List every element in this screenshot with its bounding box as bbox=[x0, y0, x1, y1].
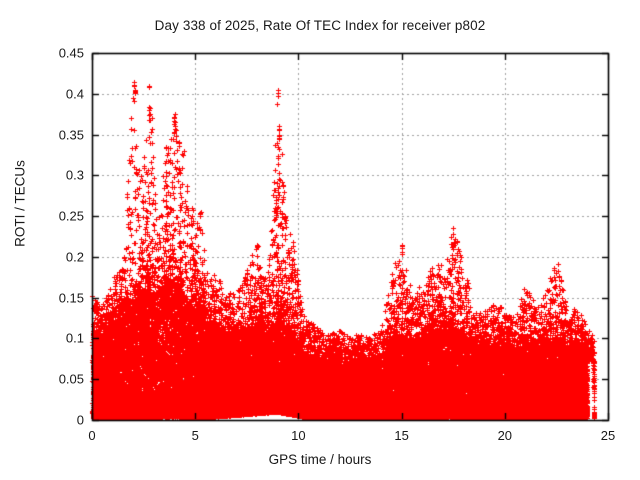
y-tick-label: 0.1 bbox=[20, 331, 84, 346]
x-tick-label: 0 bbox=[88, 428, 95, 443]
y-tick-label: 0 bbox=[20, 413, 84, 428]
x-tick-label: 25 bbox=[601, 428, 615, 443]
y-tick-label: 0.3 bbox=[20, 168, 84, 183]
y-tick-label: 0.15 bbox=[20, 290, 84, 305]
y-tick-label: 0.05 bbox=[20, 372, 84, 387]
x-tick-label: 15 bbox=[394, 428, 408, 443]
x-axis-label: GPS time / hours bbox=[0, 452, 640, 467]
y-tick-label: 0.35 bbox=[20, 127, 84, 142]
x-tick-label: 10 bbox=[291, 428, 305, 443]
roti-scatter-chart: Day 338 of 2025, Rate Of TEC Index for r… bbox=[0, 0, 640, 480]
y-axis-label: ROTI / TECUs bbox=[13, 124, 28, 284]
y-tick-label: 0.2 bbox=[20, 249, 84, 264]
y-tick-label: 0.4 bbox=[20, 86, 84, 101]
x-tick-label: 5 bbox=[192, 428, 199, 443]
y-tick-label: 0.45 bbox=[20, 46, 84, 61]
x-tick-label: 20 bbox=[498, 428, 512, 443]
plot-area bbox=[0, 0, 640, 480]
y-tick-label: 0.25 bbox=[20, 209, 84, 224]
